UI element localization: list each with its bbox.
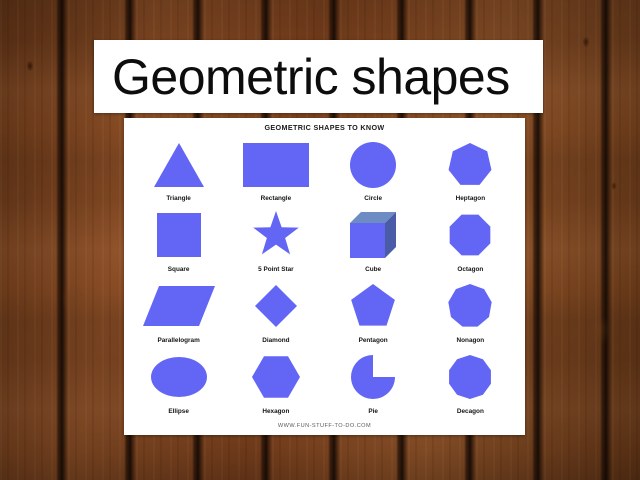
shape-label: Pentagon [359,338,388,344]
shape-label: Diamond [262,338,289,344]
shape-label: Octagon [457,267,483,273]
shape-cell-circle: Circle [325,134,422,205]
parallelogram-shape [130,276,227,337]
shape-cell-octagon: Octagon [422,205,519,276]
heptagon-shape [422,134,519,195]
diamond-shape [227,276,324,337]
shape-cell-nonagon: Nonagon [422,276,519,347]
shape-label: Ellipse [168,409,189,415]
nonagon-shape [422,276,519,337]
shape-cell-square: Square [130,205,227,276]
pie-shape [325,346,422,407]
shape-label: Nonagon [457,338,485,344]
shape-cell-hexagon: Hexagon [227,346,324,417]
shape-cell-triangle: Triangle [130,134,227,205]
octagon-shape [422,205,519,266]
shape-cell-pentagon: Pentagon [325,276,422,347]
poster-footer-url: WWW.FUN-STUFF-TO-DO.COM [124,423,525,429]
shape-label: Rectangle [261,196,292,202]
slide-canvas: Geometric shapes GEOMETRIC SHAPES TO KNO… [0,0,640,480]
shape-label: 5 Point Star [258,267,294,273]
shape-cell-rectangle: Rectangle [227,134,324,205]
shape-cell-pie: Pie [325,346,422,417]
shape-cell-decagon: Decagon [422,346,519,417]
triangle-shape [130,134,227,195]
shape-label: Heptagon [456,196,485,202]
shape-label: Circle [364,196,382,202]
shapes-poster-card: GEOMETRIC SHAPES TO KNOW TriangleRectang… [124,118,525,435]
cube-shape [325,205,422,266]
circle-shape [325,134,422,195]
star-shape [227,205,324,266]
shape-label: Decagon [457,409,484,415]
hexagon-shape [227,346,324,407]
shape-cell-5-point-star: 5 Point Star [227,205,324,276]
shape-label: Triangle [166,196,191,202]
shape-cell-heptagon: Heptagon [422,134,519,205]
shape-label: Square [168,267,190,273]
page-title: Geometric shapes [112,52,510,102]
shape-label: Cube [365,267,381,273]
shape-label: Hexagon [262,409,289,415]
pentagon-shape [325,276,422,337]
rectangle-shape [227,134,324,195]
shape-cell-cube: Cube [325,205,422,276]
shape-label: Parallelogram [157,338,199,344]
poster-heading: GEOMETRIC SHAPES TO KNOW [124,123,525,132]
shape-cell-ellipse: Ellipse [130,346,227,417]
square-shape [130,205,227,266]
shape-cell-diamond: Diamond [227,276,324,347]
title-card: Geometric shapes [94,40,543,113]
decagon-shape [422,346,519,407]
shape-cell-parallelogram: Parallelogram [130,276,227,347]
shape-label: Pie [368,409,378,415]
shape-grid: TriangleRectangleCircleHeptagonSquare5 P… [130,134,519,417]
ellipse-shape [130,346,227,407]
